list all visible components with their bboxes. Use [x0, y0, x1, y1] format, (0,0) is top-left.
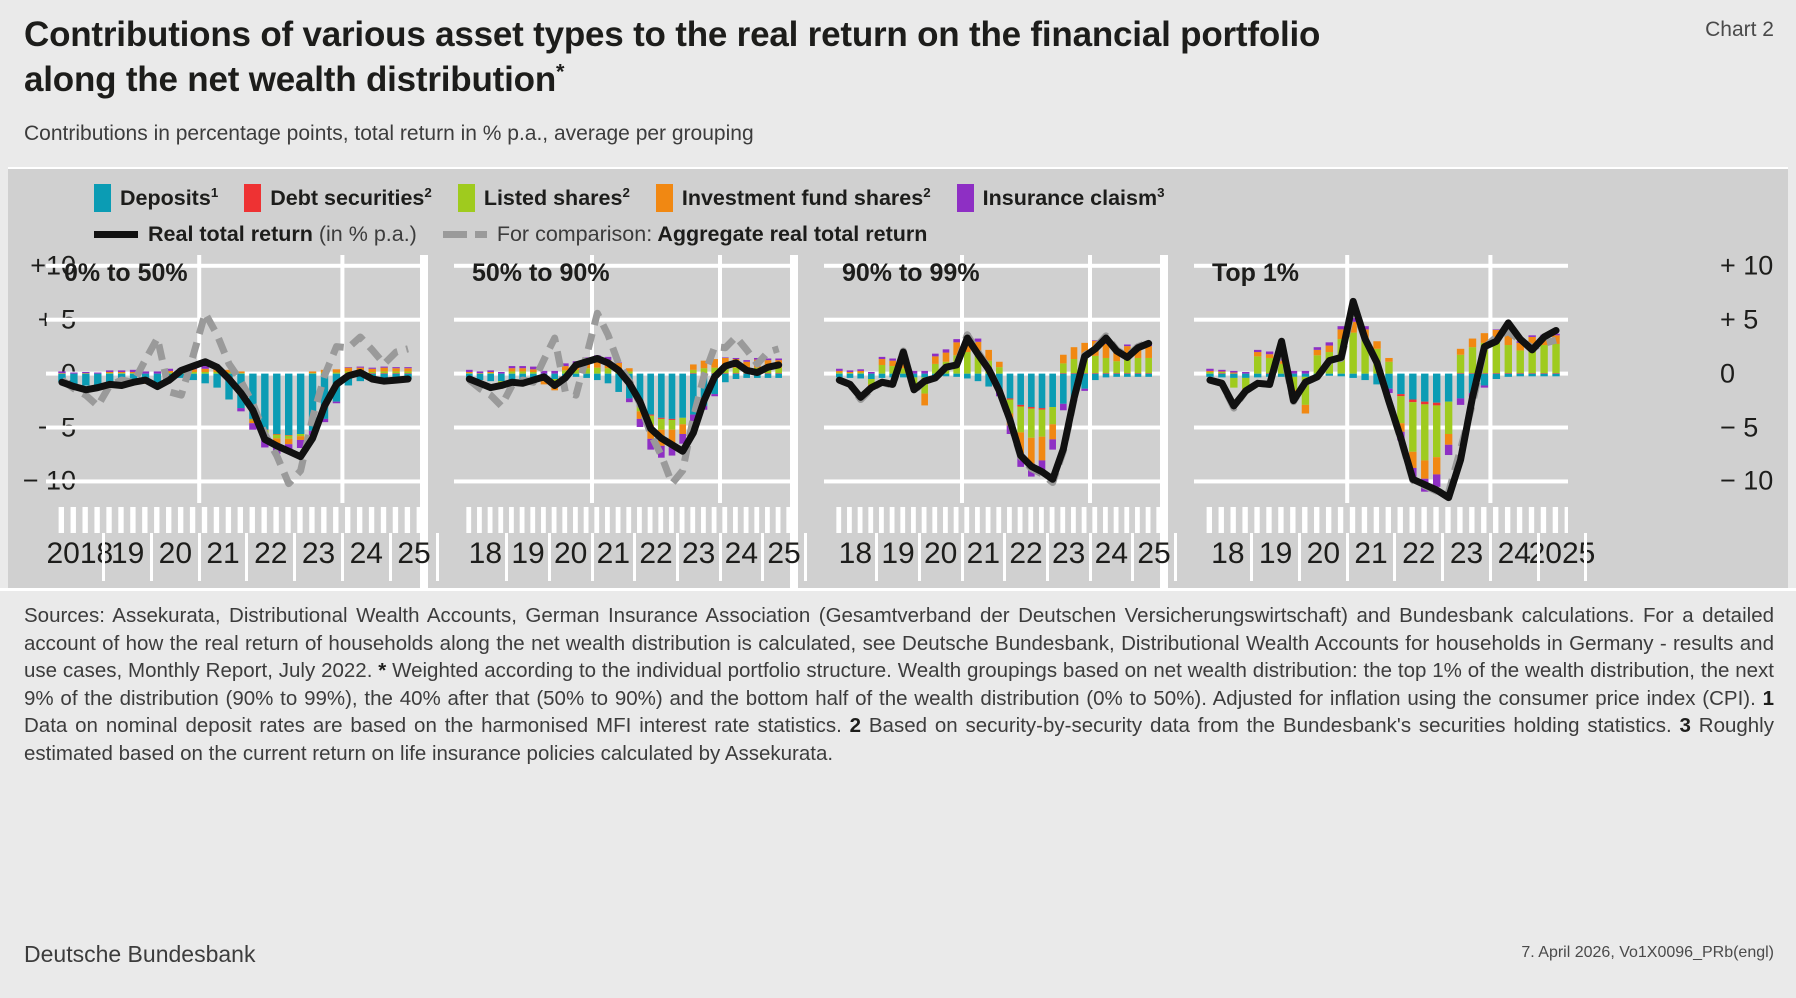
legend-label: Insurance claism3: [983, 186, 1165, 211]
chart-number: Chart 2: [1705, 18, 1774, 42]
legend-item-debt-securities: Debt securities2: [244, 184, 432, 212]
title-line-2: along the net wealth distribution: [24, 60, 556, 99]
x-axis-year-label: 19: [111, 537, 144, 571]
x-axis-year-label: 25: [397, 537, 430, 571]
x-axis-year-labels: 201819202122232425: [20, 537, 420, 583]
x-axis-year-label: 20: [1307, 537, 1340, 571]
legend-swatch-icon: [957, 184, 974, 212]
chart-subtitle: Contributions in percentage points, tota…: [24, 122, 754, 146]
x-axis-year-label: 23: [1052, 537, 1085, 571]
x-axis-year-label: 24: [1498, 537, 1531, 571]
solid-line-swatch-icon: [94, 231, 138, 238]
x-axis-ticks: [428, 505, 790, 539]
year-divider: [1298, 533, 1301, 581]
legend-item-aggregate-real-total-return: For comparison: Aggregate real total ret…: [443, 222, 928, 247]
legend-item-real-total-return: Real total return (in % p.a.): [94, 222, 417, 247]
band-bottom-rule: [0, 588, 1796, 591]
year-divider: [1441, 533, 1444, 581]
legend-item-listed-shares: Listed shares2: [458, 184, 630, 212]
band-top-rule: [8, 167, 1788, 169]
title-footnote-marker: *: [556, 58, 564, 83]
panel-50-to-90-: 50% to 90%1819202122232425: [428, 255, 790, 588]
panel-container: 0% to 50%20181920212223242550% to 90%181…: [8, 255, 1788, 588]
legend-swatch-icon: [656, 184, 673, 212]
x-axis-year-label: 20: [924, 537, 957, 571]
year-divider: [505, 533, 508, 581]
year-divider: [1393, 533, 1396, 581]
chart-legend: Deposits1Debt securities2Listed shares2I…: [94, 183, 1414, 249]
year-divider: [633, 533, 636, 581]
x-axis-year-label: 20: [159, 537, 192, 571]
x-axis-year-label: 22: [1009, 537, 1042, 571]
x-axis-year-label: 25: [1137, 537, 1170, 571]
x-axis-ticks: [1168, 505, 1568, 539]
legend-item-deposits: Deposits1: [94, 184, 218, 212]
x-axis-year-label: 24: [725, 537, 758, 571]
panel-90-to-99-: 90% to 99%1819202122232425: [798, 255, 1160, 588]
year-divider: [102, 533, 105, 581]
year-divider: [719, 533, 722, 581]
year-divider: [150, 533, 153, 581]
x-axis-year-label: 24: [350, 537, 383, 571]
x-axis-year-label: 21: [597, 537, 630, 571]
legend-item-insurance-claism: Insurance claism3: [957, 184, 1165, 212]
x-axis-year-label: 18: [839, 537, 872, 571]
legend-label: Listed shares2: [484, 186, 630, 211]
year-divider: [591, 533, 594, 581]
year-divider: [961, 533, 964, 581]
plot-band: Deposits1Debt securities2Listed shares2I…: [8, 167, 1788, 588]
x-axis-year-label: 25: [767, 537, 800, 571]
year-divider: [1003, 533, 1006, 581]
year-divider: [293, 533, 296, 581]
year-divider: [389, 533, 392, 581]
legend-label-aggregate-real-total-return: For comparison: Aggregate real total ret…: [497, 222, 928, 247]
panel-title: 50% to 90%: [472, 259, 610, 288]
panel-0-to-50-: 0% to 50%201819202122232425: [20, 255, 420, 588]
plot-area: [428, 255, 790, 503]
x-axis-year-label: 18: [469, 537, 502, 571]
year-divider: [245, 533, 248, 581]
year-divider: [1250, 533, 1253, 581]
year-divider: [1537, 533, 1540, 581]
legend-row-series: Deposits1Debt securities2Listed shares2I…: [94, 183, 1414, 213]
year-divider: [761, 533, 764, 581]
legend-row-lines: Real total return (in % p.a.) For compar…: [94, 219, 1414, 249]
page-title: Contributions of various asset types to …: [24, 12, 1504, 102]
x-axis-year-label: 23: [682, 537, 715, 571]
x-axis-year-labels: 181920212223242025: [1168, 537, 1568, 583]
legend-label: Investment fund shares2: [682, 186, 931, 211]
x-axis-year-label: 22: [1402, 537, 1435, 571]
sources-note: Sources: Assekurata, Distributional Weal…: [24, 602, 1774, 767]
legend-label: Deposits1: [120, 186, 218, 211]
chart-footer: Sources: Assekurata, Distributional Weal…: [0, 588, 1796, 998]
x-axis-year-label: 19: [1259, 537, 1292, 571]
x-axis-ticks: [798, 505, 1160, 539]
chart-page: Contributions of various asset types to …: [0, 0, 1796, 998]
year-divider: [1089, 533, 1092, 581]
legend-swatch-icon: [458, 184, 475, 212]
year-divider: [676, 533, 679, 581]
x-axis-year-label: 21: [206, 537, 239, 571]
plot-area: [1168, 255, 1568, 503]
year-divider: [341, 533, 344, 581]
panel-title: 0% to 50%: [64, 259, 188, 288]
x-axis-year-label: 18: [1211, 537, 1244, 571]
x-axis-year-label: 21: [967, 537, 1000, 571]
legend-swatch-icon: [244, 184, 261, 212]
year-divider: [918, 533, 921, 581]
x-axis-year-label: 19: [511, 537, 544, 571]
x-axis-year-label: 20: [554, 537, 587, 571]
legend-label-real-total-return: Real total return (in % p.a.): [148, 222, 417, 247]
document-id: 7. April 2026, Vo1X0096_PRb(engl): [1521, 944, 1774, 962]
x-axis-year-label: 24: [1095, 537, 1128, 571]
x-axis-year-labels: 1819202122232425: [428, 537, 790, 583]
year-divider: [875, 533, 878, 581]
x-axis-year-label: 23: [1450, 537, 1483, 571]
x-axis-year-label: 22: [639, 537, 672, 571]
legend-swatch-icon: [94, 184, 111, 212]
plot-area: [798, 255, 1160, 503]
legend-label: Debt securities2: [270, 186, 432, 211]
year-divider: [1131, 533, 1134, 581]
x-axis-ticks: [20, 505, 420, 539]
institution-label: Deutsche Bundesbank: [24, 941, 255, 968]
legend-item-investment-fund-shares: Investment fund shares2: [656, 184, 931, 212]
x-axis-year-label: 23: [302, 537, 335, 571]
year-divider: [1046, 533, 1049, 581]
x-axis-year-labels: 1819202122232425: [798, 537, 1160, 583]
x-axis-year-label: 22: [254, 537, 287, 571]
year-divider: [548, 533, 551, 581]
x-axis-year-label: 21: [1354, 537, 1387, 571]
year-divider: [1489, 533, 1492, 581]
dashed-line-swatch-icon: [443, 231, 487, 238]
title-line-1: Contributions of various asset types to …: [24, 15, 1320, 54]
panel-top-1-: Top 1%181920212223242025: [1168, 255, 1568, 588]
plot-area: [20, 255, 420, 503]
x-axis-year-label: 19: [881, 537, 914, 571]
panel-title: Top 1%: [1212, 259, 1299, 288]
year-divider: [1346, 533, 1349, 581]
panel-title: 90% to 99%: [842, 259, 980, 288]
year-divider: [1584, 533, 1587, 581]
year-divider: [198, 533, 201, 581]
